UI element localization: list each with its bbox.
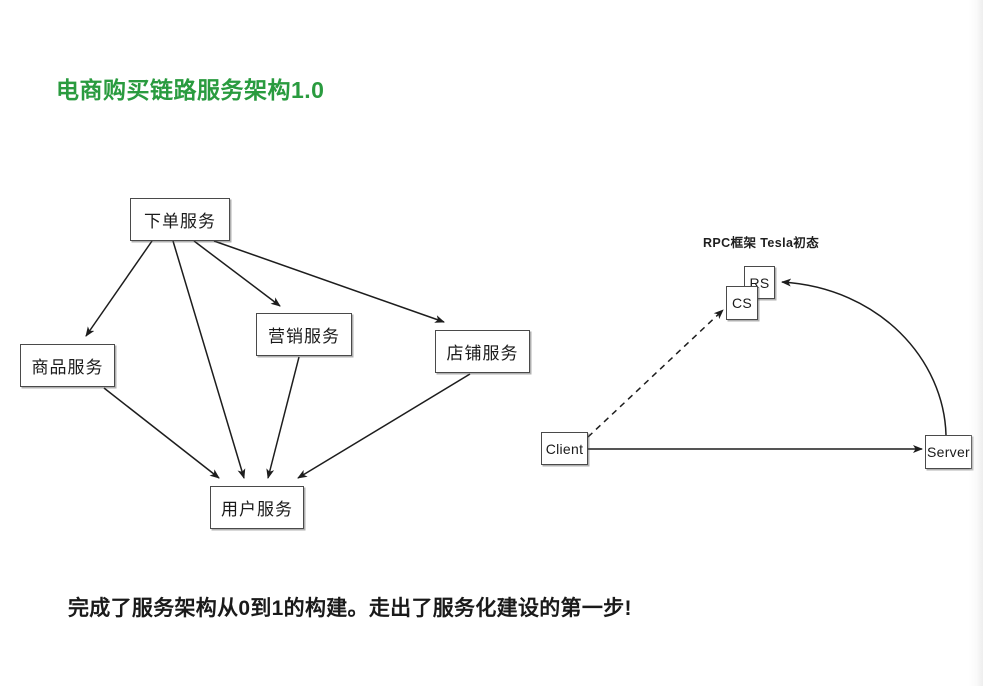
- edge-order-to-product: [86, 241, 152, 336]
- edge-order-to-marketing: [194, 241, 280, 306]
- edge-product-to-user: [104, 388, 219, 478]
- edge-order-to-user: [173, 241, 244, 478]
- node-cs-label: CS: [732, 295, 752, 311]
- node-order-service[interactable]: 下单服务: [130, 198, 230, 241]
- node-client[interactable]: Client: [541, 432, 588, 465]
- rpc-diagram-caption: RPC框架 Tesla初态: [703, 232, 819, 251]
- slide-caption: 完成了服务架构从0到1的构建。走出了服务化建设的第一步!: [68, 592, 632, 622]
- edge-server-to-rs: [782, 282, 946, 435]
- node-user-service[interactable]: 用户服务: [210, 486, 304, 529]
- node-user-service-label: 用户服务: [221, 495, 293, 520]
- edge-marketing-to-user: [268, 357, 299, 478]
- node-server-label: Server: [927, 444, 970, 460]
- node-marketing-service-label: 营销服务: [268, 322, 340, 347]
- node-client-label: Client: [546, 441, 584, 457]
- node-shop-service-label: 店铺服务: [447, 339, 519, 364]
- node-order-service-label: 下单服务: [144, 207, 216, 232]
- node-shop-service[interactable]: 店铺服务: [435, 330, 530, 373]
- slide-canvas: 电商购买链路服务架构1.0 下单: [0, 0, 983, 686]
- node-product-service[interactable]: 商品服务: [20, 344, 115, 387]
- node-product-service-label: 商品服务: [32, 353, 104, 378]
- node-marketing-service[interactable]: 营销服务: [256, 313, 352, 356]
- node-server[interactable]: Server: [925, 435, 972, 469]
- node-cs[interactable]: CS: [726, 286, 758, 320]
- edge-client-to-cs: [588, 310, 723, 437]
- edge-shop-to-user: [298, 374, 470, 478]
